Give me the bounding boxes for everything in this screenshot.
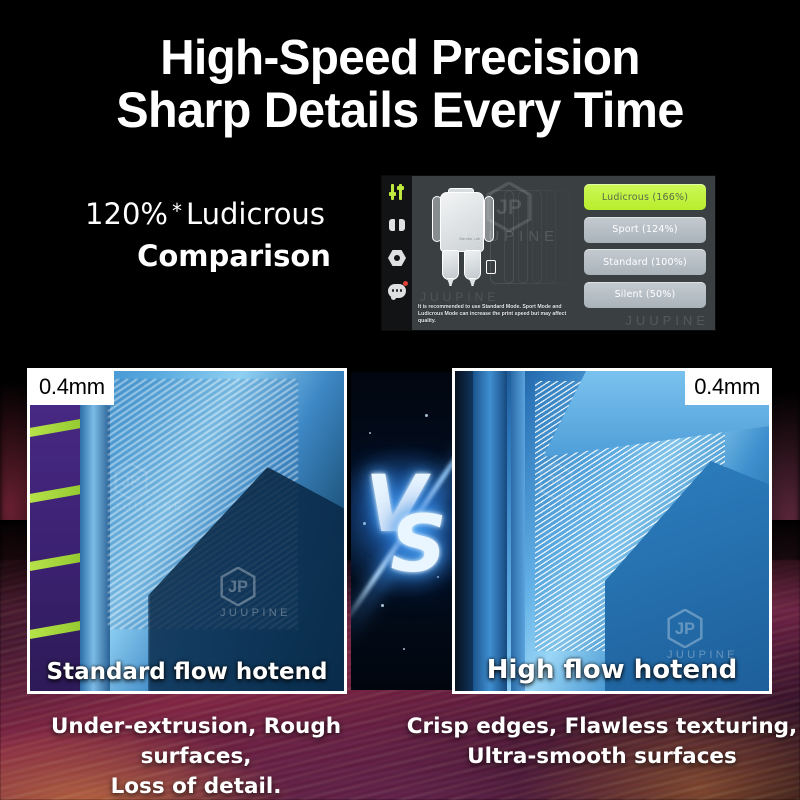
headline-line-1: High-Speed Precision — [160, 31, 640, 85]
hex-nut-icon[interactable] — [387, 248, 407, 268]
juupine-watermark-text: JUUPINE — [460, 228, 559, 245]
toolhead-illustration-area: Bambu Lab It is recommended to use Stand… — [412, 176, 580, 330]
notification-badge — [403, 281, 408, 286]
caption-left: Under-extrusion, Rough surfaces, Loss of… — [0, 712, 396, 800]
nozzle-size-badge-right: 0.4mm — [685, 371, 769, 405]
subtitle: 120%*Ludicrous Comparison — [32, 190, 372, 277]
filament-spool-icon[interactable] — [387, 215, 407, 235]
speed-mode-list: Ludicrous (166%) Sport (124%) Standard (… — [584, 184, 706, 308]
printer-ui-screenshot: Bambu Lab It is recommended to use Stand… — [382, 176, 715, 330]
speed-percent-value: 120% — [85, 197, 168, 231]
caption-right-line-1: Crisp edges, Flawless texturing, — [402, 712, 800, 742]
printer-ui-content: Bambu Lab It is recommended to use Stand… — [412, 176, 715, 330]
subtitle-line-2: Comparison — [32, 235, 372, 277]
juupine-watermark-text-3: JUUPINE — [625, 313, 709, 328]
page-title: High-Speed Precision Sharp Details Every… — [12, 32, 788, 136]
versus-badge: V S — [351, 372, 455, 690]
speed-mode-sport[interactable]: Sport (124%) — [584, 217, 706, 243]
poster-canvas: High-Speed Precision Sharp Details Every… — [0, 0, 800, 800]
caption-right-line-2: Ultra-smooth surfaces — [402, 742, 800, 772]
chat-bubble-icon[interactable] — [387, 281, 407, 301]
printer-ui-sidebar — [382, 176, 412, 330]
comparison-panel-left: JP JUUPINE JP JUUPINE 0.4mm Standard flo… — [27, 368, 347, 694]
versus-text: V S — [351, 468, 455, 582]
high-flow-photo — [455, 371, 769, 691]
juupine-watermark-text-2: JUUPINE — [420, 290, 499, 304]
subtitle-line-1: 120%*Ludicrous — [32, 190, 372, 235]
speed-mode-note: It is recommended to use Standard Mode. … — [418, 304, 568, 325]
speed-mode-silent[interactable]: Silent (50%) — [584, 282, 706, 308]
caption-left-line-2: Loss of detail. — [0, 772, 396, 800]
asterisk-mark: * — [168, 199, 186, 223]
nozzle-size-badge-left: 0.4mm — [30, 371, 114, 405]
caption-left-line-1: Under-extrusion, Rough surfaces, — [0, 712, 396, 772]
caption-right: Crisp edges, Flawless texturing, Ultra-s… — [402, 712, 800, 772]
hotend-label-left: Standard flow hotend — [30, 659, 344, 685]
comparison-panel-right: JP JUUPINE JP JUUPINE 0.4mm High flow ho… — [452, 368, 772, 694]
speed-mode-standard[interactable]: Standard (100%) — [584, 249, 706, 275]
sliders-icon[interactable] — [387, 182, 407, 202]
mode-name: Ludicrous — [186, 197, 325, 231]
hotend-label-right: High flow hotend — [455, 655, 769, 685]
speed-mode-ludicrous[interactable]: Ludicrous (166%) — [584, 184, 706, 210]
standard-flow-photo — [30, 371, 344, 691]
headline-line-2: Sharp Details Every Time — [12, 84, 788, 136]
